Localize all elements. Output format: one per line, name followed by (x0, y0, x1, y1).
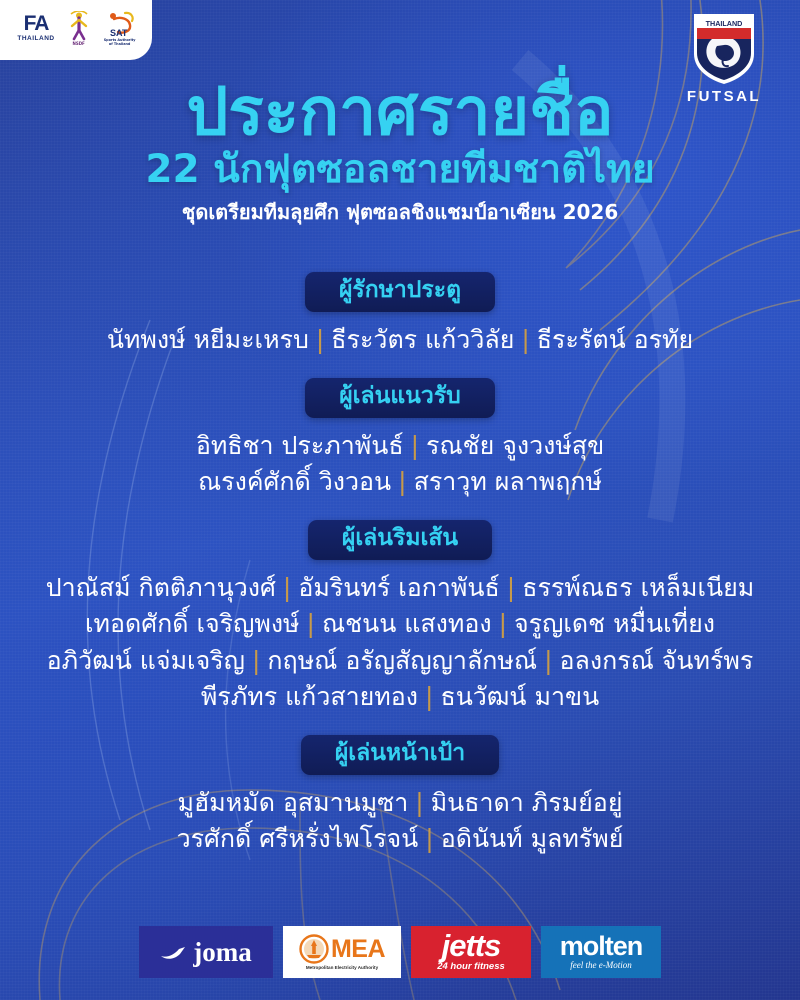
sat-logo: SAT Sports Authority of Thailand (103, 10, 137, 46)
name-separator: | (391, 467, 413, 496)
name-separator: | (418, 824, 440, 853)
player-name: อัมรินทร์ เอกาพันธ์ (298, 573, 499, 602)
player-name: กฤษณ์ อรัญสัญญาลักษณ์ (267, 646, 537, 675)
federation-logo-plate: FA THAILAND NSDF SAT Sports Authority of… (0, 0, 152, 60)
crest-shield-icon: THAILAND (690, 10, 758, 86)
player-name: ณชนน แสงทอง (322, 609, 492, 638)
name-separator: | (300, 609, 322, 638)
nsdf-logo: NSDF (64, 11, 94, 46)
player-name-list: มูฮัมหมัด อุสมานมูซา|มินธาดา ภิรมย์อยู่ว… (0, 785, 800, 858)
position-badge: ผู้รักษาประตู (305, 272, 495, 312)
player-name-line: ปาณัสม์ กิตติภานุวงศ์|อัมรินทร์ เอกาพันธ… (0, 570, 800, 606)
player-name: ธรรพ์ณธร เหล็มเนียม (522, 573, 754, 602)
name-separator: | (514, 325, 536, 354)
player-name-line: ณรงค์ศักดิ์ วิงวอน|สราวุท ผลาพฤกษ์ (0, 464, 800, 500)
svg-text:SAT: SAT (110, 28, 128, 38)
squad-section: ผู้เล่นริมเส้นปาณัสม์ กิตติภานุวงศ์|อัมร… (0, 520, 800, 715)
page-title: ประกาศรายชื่อ (0, 78, 800, 147)
sponsor-joma-name: joma (193, 937, 251, 968)
name-separator: | (276, 573, 298, 602)
squad-section: ผู้เล่นหน้าเป้ามูฮัมหมัด อุสมานมูซา|มินธ… (0, 735, 800, 857)
player-name-line: อภิวัฒน์ แจ่มเจริญ|กฤษณ์ อรัญสัญญาลักษณ์… (0, 643, 800, 679)
player-name: มูฮัมหมัด อุสมานมูซา (178, 788, 409, 817)
sponsor-molten-logo: molten feel the e-Motion (541, 926, 661, 978)
player-name: วรศักดิ์ ศรีหรั่งไพโรจน์ (177, 824, 419, 853)
squad-sections: ผู้รักษาประตูนัทพงษ์ หยีมะเหรบ|ธีระวัตร … (0, 272, 800, 857)
name-separator: | (537, 646, 559, 675)
player-name-list: นัทพงษ์ หยีมะเหรบ|ธีระวัตร แก้ววิลัย|ธีร… (0, 322, 800, 358)
sponsor-jetts-sub: 24 hour fitness (437, 961, 505, 972)
player-name-list: ปาณัสม์ กิตติภานุวงศ์|อัมรินทร์ เอกาพันธ… (0, 570, 800, 715)
player-name: เทอดศักดิ์ เจริญพงษ์ (85, 609, 300, 638)
squad-section: ผู้เล่นแนวรับอิทธิชา ประภาพันธ์|รณชัย จู… (0, 378, 800, 500)
sponsor-mea-name: MEA (331, 935, 385, 964)
headline-block: ประกาศรายชื่อ 22 นักฟุตซอลชายทีมชาติไทย … (0, 78, 800, 224)
name-separator: | (245, 646, 267, 675)
fa-logo-mark: FA (24, 13, 49, 34)
player-name: พีรภัทร แก้วสายทอง (201, 682, 418, 711)
page-subtitle: 22 นักฟุตซอลชายทีมชาติไทย (0, 149, 800, 192)
fa-logo-sub: THAILAND (17, 36, 54, 43)
player-name: ธีระวัตร แก้ววิลัย (331, 325, 514, 354)
player-name: จรูญเดช หมื่นเที่ยง (514, 609, 715, 638)
fa-thailand-logo: FA THAILAND (17, 13, 54, 43)
sponsor-jetts-logo: jetts 24 hour fitness (411, 926, 531, 978)
position-badge: ผู้เล่นแนวรับ (305, 378, 495, 418)
player-name: ณรงค์ศักดิ์ วิงวอน (198, 467, 391, 496)
sponsor-joma-logo: joma (139, 926, 273, 978)
player-name: มินธาดา ภิรมย์อยู่ (431, 788, 623, 817)
name-separator: | (418, 682, 440, 711)
mea-emblem-icon (299, 934, 329, 964)
sponsor-jetts-name: jetts (442, 932, 501, 961)
name-separator: | (492, 609, 514, 638)
player-name-list: อิทธิชา ประภาพันธ์|รณชัย จูงวงษ์สุขณรงค์… (0, 428, 800, 501)
joma-swoosh-icon (160, 944, 186, 960)
player-name: สราวุท ผลาพฤกษ์ (414, 467, 602, 496)
sponsor-molten-sub: feel the e-Motion (570, 960, 631, 970)
player-name: อภิวัฒน์ แจ่มเจริญ (47, 646, 245, 675)
player-name-line: มูฮัมหมัด อุสมานมูซา|มินธาดา ภิรมย์อยู่ (0, 785, 800, 821)
player-name-line: วรศักดิ์ ศรีหรั่งไพโรจน์|อดินันท์ มูลทรั… (0, 821, 800, 857)
name-separator: | (500, 573, 522, 602)
sponsor-bar: joma MEA Metropolitan Electricity Author… (0, 926, 800, 978)
position-badge: ผู้เล่นหน้าเป้า (301, 735, 499, 775)
player-name: อิทธิชา ประภาพันธ์ (196, 431, 404, 460)
sat-figure-icon: SAT (105, 10, 135, 38)
player-name: ธีระรัตน์ อรทัย (537, 325, 693, 354)
page-caption: ชุดเตรียมทีมลุยศึก ฟุตซอลชิงแชมป์อาเซียน… (0, 200, 800, 224)
crest-country-text: THAILAND (706, 19, 743, 28)
nsdf-figure-icon (68, 11, 90, 41)
player-name: ธนวัฒน์ มาขน (440, 682, 599, 711)
player-name-line: พีรภัทร แก้วสายทอง|ธนวัฒน์ มาขน (0, 679, 800, 715)
nsdf-logo-sub: NSDF (72, 42, 84, 46)
sponsor-molten-name: molten (560, 934, 643, 960)
player-name: อลงกรณ์ จันทร์พร (560, 646, 754, 675)
player-name: รณชัย จูงวงษ์สุข (426, 431, 604, 460)
player-name-line: นัทพงษ์ หยีมะเหรบ|ธีระวัตร แก้ววิลัย|ธีร… (0, 322, 800, 358)
player-name: ปาณัสม์ กิตติภานุวงศ์ (46, 573, 276, 602)
squad-section: ผู้รักษาประตูนัทพงษ์ หยีมะเหรบ|ธีระวัตร … (0, 272, 800, 358)
player-name: นัทพงษ์ หยีมะเหรบ (107, 325, 309, 354)
name-separator: | (309, 325, 331, 354)
position-badge: ผู้เล่นริมเส้น (308, 520, 492, 560)
sponsor-mea-logo: MEA Metropolitan Electricity Authority (283, 926, 401, 978)
player-name: อดินันท์ มูลทรัพย์ (441, 824, 624, 853)
sponsor-mea-sub: Metropolitan Electricity Authority (306, 965, 378, 970)
sat-logo-sub: Sports Authority of Thailand (103, 39, 137, 46)
name-separator: | (408, 788, 430, 817)
player-name-line: เทอดศักดิ์ เจริญพงษ์|ณชนน แสงทอง|จรูญเดช… (0, 606, 800, 642)
player-name-line: อิทธิชา ประภาพันธ์|รณชัย จูงวงษ์สุข (0, 428, 800, 464)
poster-canvas: FA THAILAND NSDF SAT Sports Authority of… (0, 0, 800, 1000)
name-separator: | (404, 431, 426, 460)
